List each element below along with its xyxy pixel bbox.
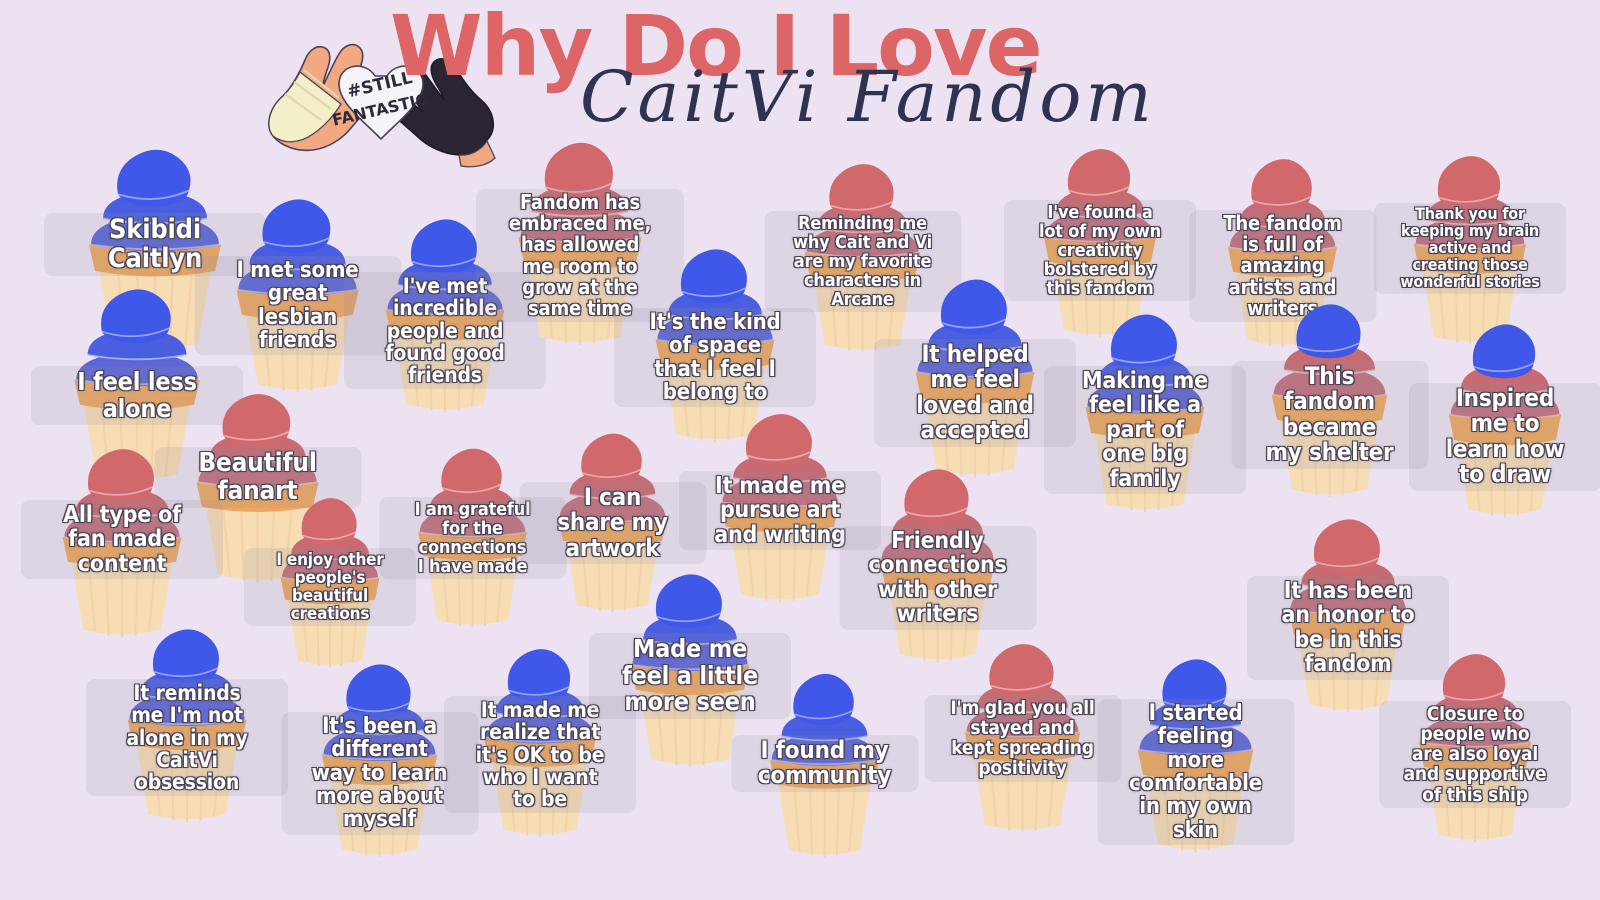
page-title-script: CaitVi Fandom bbox=[580, 62, 1156, 132]
cupcake-label: All type of fan made content bbox=[21, 500, 223, 579]
cupcake-card: I found my community bbox=[742, 665, 907, 860]
cupcake-card: All type of fan made content bbox=[32, 440, 212, 640]
cupcake-card: This fandom became my shelter bbox=[1242, 295, 1417, 500]
cupcake-label: I'm glad you all stayed and kept spreadi… bbox=[924, 695, 1121, 782]
poster-header: #STILL FANTASTIC Why Do I Love CaitVi Fa… bbox=[0, 0, 1600, 160]
cupcake-label: Thank you for keeping my brain active an… bbox=[1374, 203, 1566, 294]
cupcake-card: It's been a different way to learn more … bbox=[292, 655, 467, 860]
cupcake-card: Making me feel like a part of one big fa… bbox=[1055, 305, 1235, 515]
cupcake-card: It helped me feel loved and accepted bbox=[885, 270, 1065, 480]
cupcake-card: I'm glad you all stayed and kept spreadi… bbox=[935, 635, 1110, 835]
cupcake-label: I found my community bbox=[731, 735, 918, 792]
cupcake-card: It reminds me I'm not alone in my CaitVi… bbox=[97, 620, 277, 825]
cupcake-label: Friendly connections with other writers bbox=[839, 526, 1036, 630]
cupcake-label: Closure to people who are also loyal and… bbox=[1379, 701, 1571, 808]
cupcake-label: I started feeling more comfortable in my… bbox=[1097, 699, 1294, 845]
cupcake-label: I can share my artwork bbox=[519, 482, 706, 564]
cupcake-label: Making me feel like a part of one big fa… bbox=[1044, 366, 1246, 494]
cupcake-label: It reminds me I'm not alone in my CaitVi… bbox=[86, 679, 288, 796]
cupcake-card: I started feeling more comfortable in my… bbox=[1108, 650, 1283, 855]
cupcake-label: This fandom became my shelter bbox=[1231, 361, 1428, 469]
cupcake-card: Closure to people who are also loyal and… bbox=[1390, 645, 1560, 845]
cupcake-label: I enjoy other people's beautiful creatio… bbox=[244, 548, 416, 626]
poster-canvas: #STILL FANTASTIC Why Do I Love CaitVi Fa… bbox=[0, 0, 1600, 900]
cupcake-label: It's the kind of space that I feel I bel… bbox=[614, 308, 816, 407]
cupcake-card: I enjoy other people's beautiful creatio… bbox=[255, 490, 405, 670]
cupcake-label: Inspired me to learn how to draw bbox=[1409, 383, 1600, 491]
cupcake-card: Inspired me to learn how to draw bbox=[1420, 315, 1590, 520]
